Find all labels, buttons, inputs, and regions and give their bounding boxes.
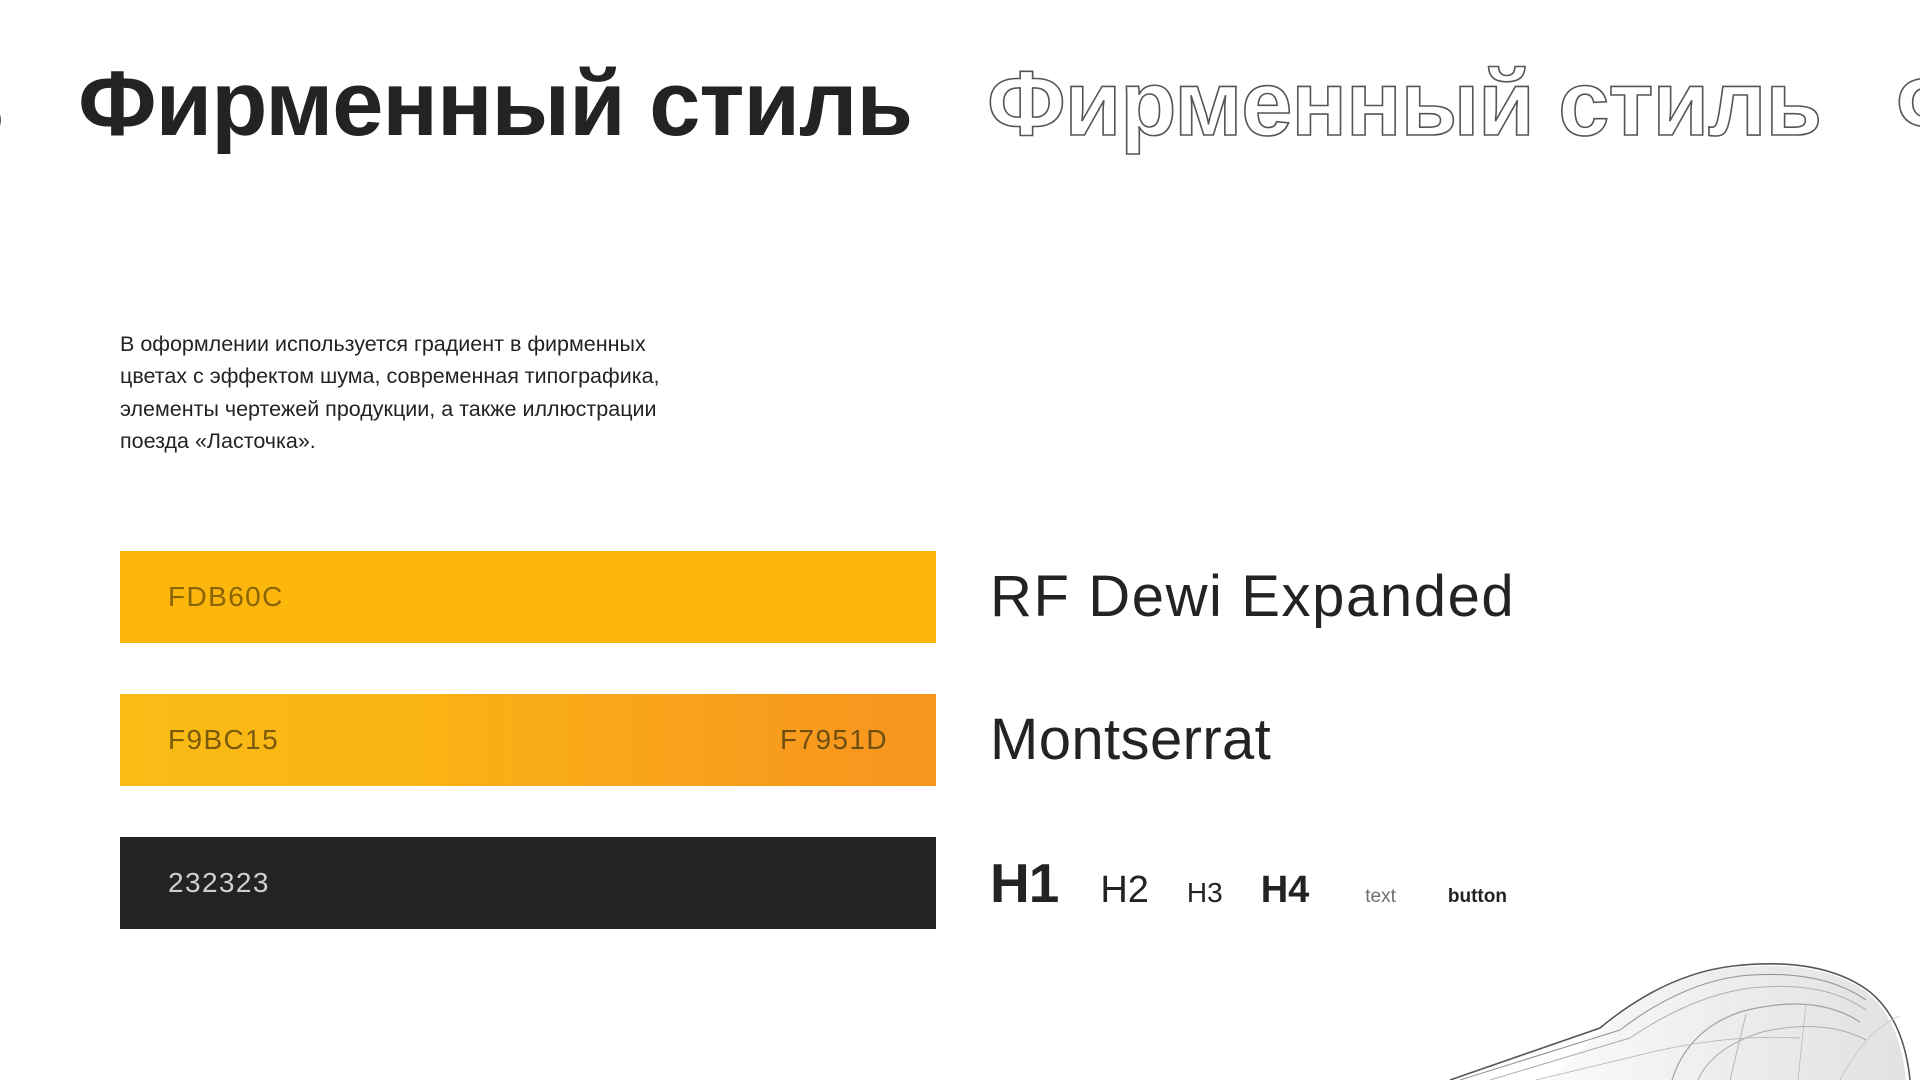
headline-track: ль Фирменный стиль Фирменный стиль Фирме… [0, 58, 1920, 150]
intro-line: элементы чертежей продукции, а также илл… [120, 393, 890, 425]
type-scale-h2: H2 [1100, 871, 1149, 909]
type-scale-list: H1 H2 H3 H4 text button [990, 856, 1507, 911]
swatch-hex-label-start: F9BC15 [168, 724, 279, 756]
type-scale-h3: H3 [1187, 879, 1223, 907]
headline-word-solid: Фирменный стиль [78, 58, 912, 150]
intro-line: цветах с эффектом шума, современная типо… [120, 360, 890, 392]
typeface-secondary-name: Montserrat [990, 711, 1271, 769]
typeface-secondary-row: Montserrat [990, 694, 1810, 786]
headline-word-outline-1: Фирменный стиль [987, 58, 1821, 150]
headline-marquee: ль Фирменный стиль Фирменный стиль Фирме… [0, 0, 1920, 200]
intro-line: поезда «Ласточка». [120, 425, 890, 457]
swatch-hex-label: FDB60C [168, 581, 284, 613]
type-scale-button: button [1448, 887, 1507, 906]
type-scale-h4: H4 [1261, 871, 1310, 909]
headline-fragment-left: ль [0, 58, 3, 150]
type-scale-row: H1 H2 H3 H4 text button [990, 837, 1810, 929]
headline-word-outline-2: Фирменный стиль [1896, 58, 1920, 150]
type-scale-h1: H1 [990, 856, 1058, 911]
color-swatch-brand-gradient: F9BC15 F7951D [120, 694, 936, 786]
typeface-primary-name: RF Dewi Expanded [990, 568, 1515, 626]
color-palette: FDB60C F9BC15 F7951D 232323 [120, 551, 936, 929]
swatch-hex-label: 232323 [168, 867, 270, 899]
intro-paragraph: В оформлении используется градиент в фир… [120, 328, 890, 457]
swatch-hex-label-end: F7951D [780, 724, 888, 756]
color-swatch-brand-dark: 232323 [120, 837, 936, 929]
typography-panel: RF Dewi Expanded Montserrat H1 H2 H3 H4 … [990, 551, 1810, 929]
intro-line: В оформлении используется градиент в фир… [120, 328, 890, 360]
color-swatch-brand-yellow: FDB60C [120, 551, 936, 643]
typeface-primary-row: RF Dewi Expanded [990, 551, 1810, 643]
type-scale-text: text [1365, 887, 1396, 906]
